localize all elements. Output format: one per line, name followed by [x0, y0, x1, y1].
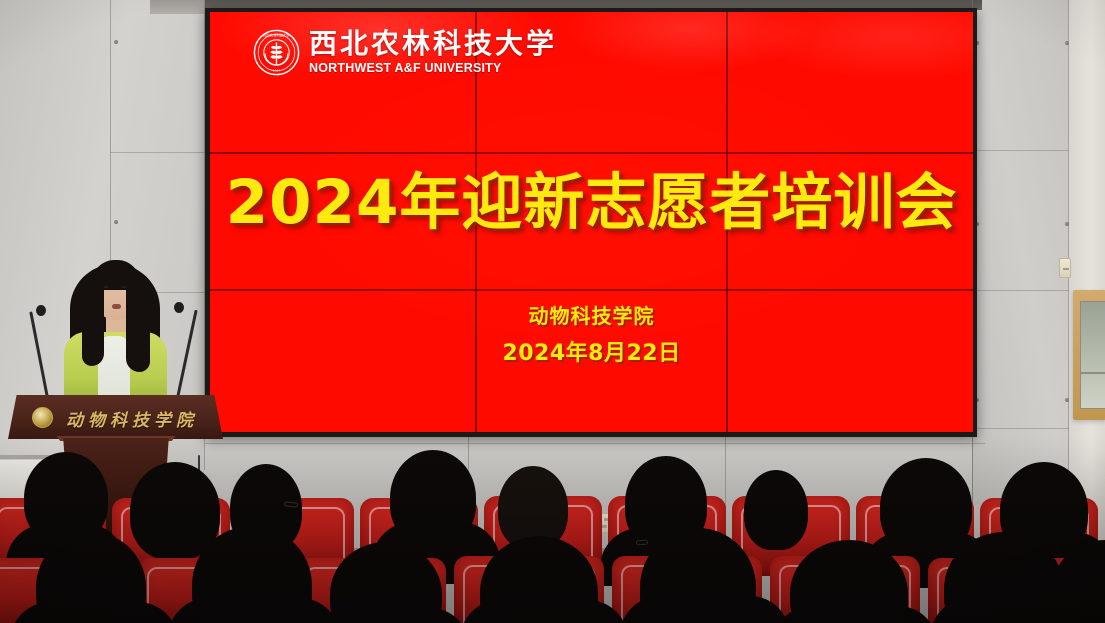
panel-screw — [1065, 222, 1069, 226]
eyeglasses — [636, 540, 648, 546]
window-right — [1073, 290, 1105, 420]
college-round-emblem — [32, 407, 53, 428]
wall-seam — [972, 428, 1069, 429]
university-name-cn: 西北农林科技大学 — [309, 30, 557, 58]
speaker-hair-right-strand — [126, 280, 150, 372]
microphone-stand-left[interactable] — [29, 311, 49, 398]
audience-area — [0, 440, 1105, 623]
wall-seam — [972, 290, 1069, 291]
slide-subtitle-organization: 动物科技学院 — [210, 300, 973, 329]
speaker-hair-left-strand — [82, 280, 104, 366]
slide-title: 2024年迎新志愿者培训会 — [210, 152, 973, 241]
microphone-head-right[interactable] — [174, 302, 184, 313]
videowall-tile-seam — [210, 289, 973, 291]
university-crest-wheat-emblem: 西北农林科技大学 1934 — [253, 29, 300, 76]
lecture-hall-photo: 西北农林科技大学 1934 西北农林科技大学 NORTHWEST A&F UNI… — [0, 0, 1105, 623]
slide-subtitle-block: 动物科技学院 2024年8月22日 — [210, 300, 973, 367]
podium-plaque-text: 动物科技学院 — [66, 406, 206, 431]
audience-shoulders-front — [620, 596, 790, 623]
led-video-wall[interactable]: 西北农林科技大学 1934 西北农林科技大学 NORTHWEST A&F UNI… — [205, 8, 977, 437]
panel-screw — [114, 40, 118, 44]
panel-screw — [114, 220, 118, 224]
audience-head — [744, 470, 808, 550]
speaker-presenter — [60, 250, 170, 400]
ceiling-soffit-left — [150, 0, 205, 14]
microphone-stand-right[interactable] — [176, 310, 198, 399]
wall-seam — [110, 152, 205, 153]
audience-shoulders-front — [772, 606, 938, 623]
audience-shoulders-front — [930, 598, 1105, 623]
university-name-en: NORTHWEST A&F UNIVERSITY — [309, 62, 557, 75]
slide-subtitle-date: 2024年8月22日 — [210, 335, 973, 367]
university-logo-lockup: 西北农林科技大学 1934 西北农林科技大学 NORTHWEST A&F UNI… — [253, 29, 557, 76]
wall-seam — [972, 150, 1069, 151]
svg-text:西北农林科技大学: 西北农林科技大学 — [263, 33, 290, 38]
wall-sensor-right[interactable] — [1059, 258, 1071, 278]
speaker-mouth — [112, 304, 121, 309]
presentation-screen[interactable]: 西北农林科技大学 1934 西北农林科技大学 NORTHWEST A&F UNI… — [210, 12, 973, 432]
audience-shoulders-front — [168, 598, 340, 623]
audience-shoulders-front — [10, 602, 178, 623]
panel-screw — [1065, 398, 1069, 402]
wall-panel-right — [972, 0, 1072, 505]
window-glass — [1080, 301, 1105, 409]
svg-text:1934: 1934 — [273, 68, 280, 72]
window-mullion — [1080, 372, 1105, 374]
audience-shoulders-front — [310, 608, 470, 623]
microphone-head-left[interactable] — [36, 305, 46, 316]
panel-screw — [1065, 41, 1069, 45]
audience-shoulders-front — [460, 600, 628, 623]
